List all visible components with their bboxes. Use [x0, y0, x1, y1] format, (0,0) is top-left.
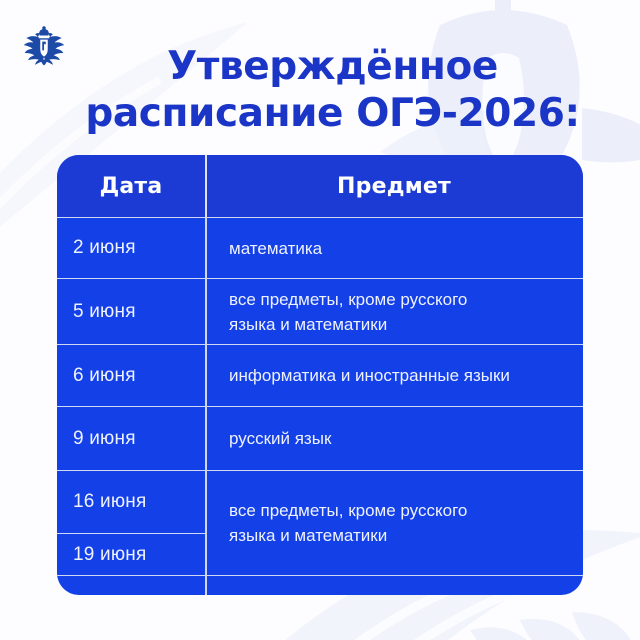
- table-row-clipped: [57, 575, 205, 595]
- date-column: 2 июня 5 июня 6 июня 9 июня 16 июня 19 и…: [57, 217, 205, 595]
- table-cell-subject-merged: все предметы, кроме русского языка и мат…: [205, 470, 583, 575]
- table-row: 19 июня: [57, 533, 205, 575]
- table-row: 16 июня: [57, 470, 205, 533]
- column-header-subject: Предмет: [205, 155, 583, 217]
- table-row: 9 июня: [57, 406, 205, 470]
- column-divider: [205, 217, 207, 595]
- table-cell-subject: все предметы, кроме русского языка и мат…: [205, 278, 583, 344]
- page-title: Утверждённое расписание ОГЭ-2026:: [60, 44, 605, 136]
- table-cell-subject-clipped: [205, 575, 583, 595]
- table-row: 2 июня: [57, 217, 205, 278]
- rosobrnadzor-emblem-icon: [22, 24, 66, 68]
- table-row: 5 июня: [57, 278, 205, 344]
- column-header-date: Дата: [57, 155, 205, 217]
- table-cell-subject: математика: [205, 217, 583, 278]
- table-cell-subject: русский язык: [205, 406, 583, 470]
- subject-column: математика все предметы, кроме русского …: [205, 217, 583, 595]
- exam-schedule-table: Дата Предмет 2 июня 5 июня 6 июня 9 июня…: [57, 155, 583, 595]
- page-title-line-1: Утверждённое: [60, 44, 605, 89]
- subject-line-1: все предметы, кроме русского: [229, 290, 467, 309]
- merged-subject-line-1: все предметы, кроме русского: [229, 501, 467, 520]
- header-column-divider: [205, 155, 207, 217]
- table-cell-subject: информатика и иностранные языки: [205, 344, 583, 406]
- subject-line-2: языка и математики: [229, 315, 387, 334]
- table-header-row: Дата Предмет: [57, 155, 583, 217]
- table-body: 2 июня 5 июня 6 июня 9 июня 16 июня 19 и…: [57, 217, 583, 595]
- table-row: 6 июня: [57, 344, 205, 406]
- page-title-line-2: расписание ОГЭ-2026:: [60, 91, 605, 136]
- merged-subject-line-2: языка и математики: [229, 526, 387, 545]
